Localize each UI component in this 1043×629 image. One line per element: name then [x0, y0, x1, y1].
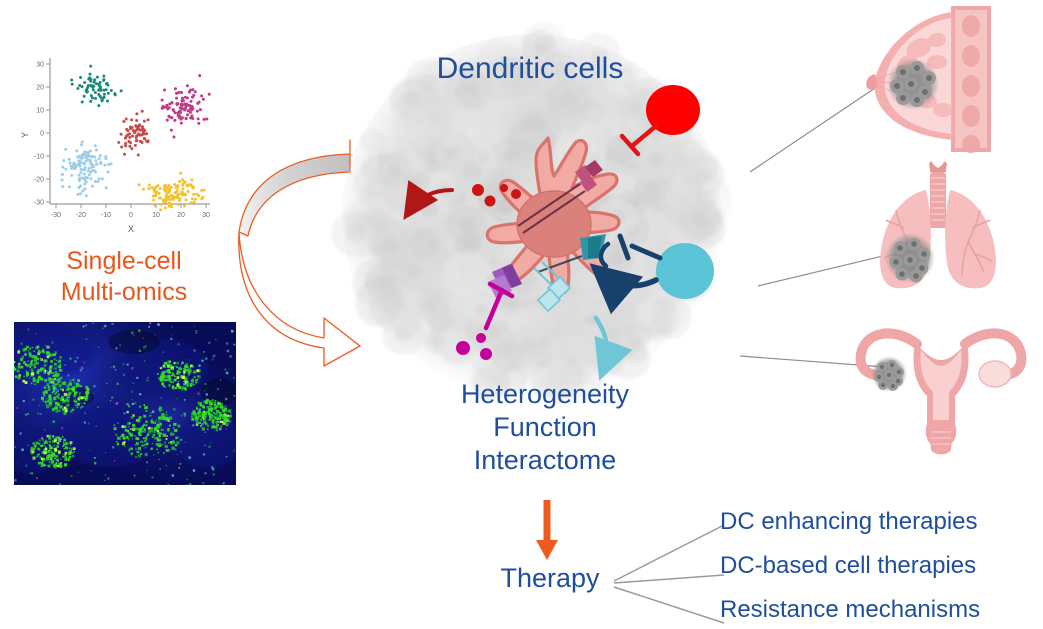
- cluster-red-point: [123, 153, 126, 156]
- micrograph-signal-dot: [56, 447, 58, 449]
- micrograph-signal-dot: [39, 439, 41, 441]
- cluster-yellow-point: [197, 194, 200, 197]
- micrograph-signal-dot: [161, 413, 164, 416]
- micrograph-speckle: [213, 473, 215, 475]
- cluster-teal-point: [106, 82, 109, 85]
- micrograph-speckle: [51, 453, 53, 455]
- micrograph-signal-dot: [164, 386, 166, 388]
- micrograph-signal-dot: [226, 410, 228, 412]
- micrograph-speckle: [117, 383, 119, 385]
- micrograph-signal-dot: [172, 374, 174, 376]
- cluster-blue-point: [89, 160, 92, 163]
- single-cell-scatter-plot: 30 20 10 0 -10 -20 -30 -30 -20: [14, 52, 236, 242]
- micrograph-signal-dot: [49, 404, 51, 406]
- micrograph-speckle: [199, 365, 201, 367]
- micrograph-signal-dot: [219, 412, 221, 414]
- cluster-yellow-point: [176, 196, 179, 199]
- micrograph-signal-dot: [49, 354, 52, 357]
- micrograph-signal-dot: [42, 439, 43, 440]
- cluster-blue-point: [99, 161, 102, 164]
- micrograph-speckle: [233, 377, 235, 379]
- micrograph-speckle: [59, 438, 62, 441]
- ovary-right: [979, 361, 1011, 387]
- micrograph-speckle: [86, 338, 88, 340]
- micrograph-signal-dot: [122, 425, 125, 428]
- micrograph-signal-dot: [70, 441, 73, 444]
- micrograph-signal-dot: [143, 415, 146, 418]
- cluster-yellow-point: [167, 188, 170, 191]
- cluster-blue-point: [110, 162, 113, 165]
- micrograph-speckle: [112, 446, 114, 448]
- micrograph-speckle: [176, 398, 177, 399]
- micrograph-speckle: [217, 388, 219, 390]
- tumor-cell-nucleus: [414, 177, 424, 186]
- micrograph-signal-dot: [138, 433, 141, 436]
- micrograph-speckle: [223, 482, 225, 484]
- micrograph-signal-dot: [49, 379, 51, 381]
- micrograph-speckle: [226, 456, 228, 458]
- micrograph-signal-dot: [142, 425, 145, 428]
- svg-text:-30: -30: [34, 200, 44, 207]
- micrograph-signal-dot: [177, 381, 179, 383]
- micrograph-signal-dot: [192, 366, 194, 368]
- micrograph-signal-dot: [154, 437, 156, 439]
- micrograph-signal-dot: [153, 454, 154, 455]
- cluster-blue-point: [91, 185, 94, 188]
- cluster-magenta-point: [175, 97, 178, 100]
- micrograph-signal-dot: [222, 407, 224, 409]
- micrograph-signal-dot: [37, 346, 40, 349]
- micrograph-speckle: [208, 342, 210, 344]
- micrograph-signal-dot: [220, 406, 222, 408]
- cluster-blue-point: [81, 168, 84, 171]
- cluster-teal-point: [88, 73, 91, 76]
- micrograph-signal-dot: [199, 422, 201, 424]
- micrograph-speckle: [40, 413, 42, 415]
- micrograph-signal-dot: [173, 442, 175, 444]
- micrograph-signal-dot: [73, 447, 76, 450]
- micrograph-signal-dot: [228, 409, 231, 412]
- micrograph-speckle: [185, 441, 186, 442]
- cluster-magenta-point: [202, 98, 205, 101]
- cluster-yellow-point: [142, 188, 145, 191]
- micrograph-speckle: [141, 394, 142, 395]
- micrograph-signal-dot: [57, 442, 59, 444]
- cluster-red-point: [141, 125, 144, 128]
- cluster-blue-point: [94, 144, 97, 147]
- micrograph-signal-dot: [178, 436, 179, 437]
- micrograph-signal-dot: [184, 371, 186, 373]
- micrograph-speckle: [127, 364, 129, 366]
- organ-uterus-illustration: [845, 320, 1041, 460]
- micrograph-speckle: [146, 379, 148, 381]
- micrograph-signal-dot: [62, 389, 64, 391]
- uterus-svg: [845, 320, 1041, 460]
- micrograph-signal-dot: [28, 350, 29, 351]
- micrograph-signal-dot: [153, 434, 156, 437]
- micrograph-signal-dot: [74, 394, 76, 396]
- micrograph-signal-dot: [33, 379, 36, 382]
- micrograph-signal-dot: [198, 402, 200, 404]
- micrograph-speckle: [125, 428, 126, 429]
- micrograph-signal-dot: [73, 451, 75, 453]
- micrograph-speckle: [134, 475, 136, 477]
- micrograph-speckle: [147, 377, 148, 378]
- micrograph-speckle: [81, 367, 83, 369]
- micrograph-signal-dot: [169, 361, 171, 363]
- dendritic-cells-label: Dendritic cells: [380, 52, 680, 86]
- micrograph-speckle: [146, 470, 147, 471]
- micrograph-speckle: [43, 367, 44, 368]
- cluster-teal-point: [120, 89, 123, 92]
- micrograph-signal-dot: [196, 421, 197, 422]
- micrograph-signal-dot: [87, 389, 88, 390]
- micrograph-signal-dot: [58, 375, 59, 376]
- micrograph-signal-dot: [44, 362, 45, 363]
- micrograph-speckle: [183, 413, 186, 416]
- micrograph-signal-dot: [15, 375, 18, 378]
- cluster-red-point: [135, 112, 138, 115]
- cluster-blue-point: [81, 153, 84, 156]
- cluster-blue-point: [93, 155, 96, 158]
- scatter-points-group: [61, 65, 211, 212]
- micrograph-signal-dot: [134, 435, 135, 436]
- caption-line-2: Multi-omics: [8, 277, 240, 308]
- micrograph-signal-dot: [85, 386, 88, 389]
- organ-breast-illustration: [845, 4, 1041, 159]
- micrograph-signal-dot: [41, 397, 44, 400]
- cluster-magenta-point: [168, 106, 171, 109]
- cluster-magenta-point: [208, 93, 211, 96]
- micrograph-signal-dot: [26, 375, 28, 377]
- micrograph-speckle: [70, 475, 72, 477]
- micrograph-signal-dot: [162, 382, 164, 384]
- micrograph-signal-dot: [176, 376, 179, 379]
- micrograph-signal-dot: [193, 376, 195, 378]
- cluster-red-point: [138, 123, 141, 126]
- micrograph-signal-dot: [190, 383, 193, 386]
- micrograph-speckle: [215, 339, 216, 340]
- micrograph-signal-dot: [32, 457, 35, 460]
- micrograph-signal-dot: [60, 462, 62, 464]
- micrograph-signal-dot: [200, 425, 202, 427]
- micrograph-signal-dot: [80, 407, 82, 409]
- micrograph-signal-dot: [128, 439, 129, 440]
- micrograph-signal-dot: [224, 405, 226, 407]
- micrograph-signal-dot: [220, 415, 222, 417]
- micrograph-speckle: [205, 472, 207, 474]
- micrograph-signal-dot: [127, 411, 129, 413]
- micrograph-signal-dot: [14, 361, 15, 363]
- cluster-yellow-point: [190, 201, 193, 204]
- micrograph-signal-dot: [56, 360, 58, 362]
- cluster-teal-point: [102, 75, 105, 78]
- micrograph-signal-dot: [132, 414, 134, 416]
- micrograph-speckle: [89, 450, 90, 451]
- micrograph-signal-dot: [41, 451, 44, 454]
- micrograph-signal-dot: [31, 383, 33, 385]
- cluster-magenta-point: [179, 106, 182, 109]
- micrograph-signal-dot: [117, 436, 119, 438]
- cluster-blue-point: [86, 158, 89, 161]
- micrograph-speckle: [211, 358, 214, 361]
- micrograph-signal-dot: [69, 450, 71, 452]
- micrograph-signal-dot: [114, 424, 116, 426]
- micrograph-signal-dot: [58, 378, 60, 380]
- micrograph-signal-dot: [205, 413, 207, 415]
- tumor-cell-nucleus: [691, 211, 710, 228]
- micrograph-signal-dot: [66, 385, 68, 387]
- micrograph-signal-dot: [54, 384, 55, 385]
- micrograph-signal-dot: [54, 363, 57, 366]
- micrograph-signal-dot: [122, 442, 125, 445]
- micrograph-signal-dot: [193, 410, 195, 412]
- micrograph-speckle: [173, 440, 175, 442]
- tumor-cell-nucleus: [406, 263, 423, 278]
- micrograph-signal-dot: [132, 439, 133, 440]
- micrograph-speckle: [203, 351, 205, 353]
- micrograph-speckle: [14, 369, 16, 371]
- cluster-blue-point: [88, 173, 91, 176]
- micrograph-signal-dot: [73, 400, 75, 402]
- cluster-yellow-point: [158, 197, 161, 200]
- cluster-blue-point: [101, 177, 104, 180]
- cluster-magenta-point: [191, 88, 194, 91]
- micrograph-signal-dot: [60, 388, 62, 390]
- svg-text:0: 0: [40, 131, 44, 138]
- micrograph-speckle: [180, 463, 182, 465]
- micrograph-signal-dot: [163, 365, 165, 367]
- cluster-yellow-point: [170, 186, 173, 189]
- cluster-yellow-point: [153, 203, 156, 206]
- micrograph-signal-dot: [54, 398, 56, 400]
- micrograph-signal-dot: [166, 435, 168, 437]
- tumor-cell-nucleus: [466, 85, 480, 98]
- micrograph-signal-dot: [184, 387, 187, 390]
- micrograph-speckle: [143, 431, 145, 433]
- micrograph-signal-dot: [48, 450, 51, 453]
- micrograph-signal-dot: [51, 404, 52, 405]
- micrograph-signal-dot: [222, 422, 223, 423]
- cluster-red-point: [141, 133, 144, 136]
- micrograph-signal-dot: [63, 442, 64, 443]
- scatter-svg: 30 20 10 0 -10 -20 -30 -30 -20: [14, 52, 236, 242]
- cluster-blue-point: [81, 176, 84, 179]
- cluster-blue-point: [80, 143, 83, 146]
- micrograph-signal-dot: [185, 381, 187, 383]
- micrograph-signal-dot: [137, 443, 140, 446]
- micrograph-signal-dot: [60, 458, 62, 460]
- cluster-teal-point: [89, 65, 92, 68]
- micrograph-signal-dot: [173, 423, 176, 426]
- micrograph-speckle: [193, 469, 195, 471]
- micrograph-signal-dot: [38, 454, 40, 456]
- micrograph-signal-dot: [50, 360, 53, 363]
- micrograph-speckle: [136, 377, 138, 379]
- svg-text:10: 10: [152, 212, 160, 219]
- micrograph-signal-dot: [60, 356, 62, 358]
- cluster-blue-point: [94, 159, 97, 162]
- micrograph-signal-dot: [150, 412, 151, 413]
- micrograph-speckle: [159, 459, 160, 460]
- cluster-red-point: [131, 126, 134, 129]
- micrograph-signal-dot: [132, 424, 135, 427]
- tumor-cell-nucleus: [694, 167, 712, 183]
- micrograph-signal-dot: [174, 379, 177, 382]
- cluster-blue-point: [68, 158, 71, 161]
- micrograph-signal-dot: [31, 368, 34, 371]
- micrograph-speckle: [27, 413, 29, 415]
- cluster-red-point: [142, 130, 145, 133]
- micrograph-signal-dot: [157, 439, 160, 442]
- cluster-magenta-point: [163, 88, 166, 91]
- micrograph-signal-dot: [176, 362, 179, 365]
- cluster-teal-point: [94, 91, 97, 94]
- micrograph-signal-dot: [166, 414, 168, 416]
- micrograph-speckle: [170, 441, 172, 443]
- therapy-outcome-item: DC-based cell therapies: [720, 544, 1040, 588]
- micrograph-signal-dot: [70, 444, 72, 446]
- micrograph-signal-dot: [48, 394, 51, 397]
- micrograph-signal-dot: [33, 443, 35, 445]
- cluster-red-point: [145, 132, 148, 135]
- micrograph-speckle: [123, 364, 125, 366]
- micrograph-speckle: [146, 410, 148, 412]
- micrograph-speckle: [44, 430, 45, 431]
- micrograph-signal-dot: [160, 423, 163, 426]
- micrograph-signal-dot: [66, 404, 68, 406]
- micrograph-signal-dot: [161, 429, 163, 431]
- breast-svg: [845, 4, 1041, 159]
- micrograph-signal-dot: [156, 449, 158, 451]
- cluster-yellow-point: [179, 172, 182, 175]
- micrograph-speckle: [45, 345, 46, 346]
- micrograph-speckle: [195, 330, 197, 332]
- micrograph-signal-dot: [42, 350, 44, 352]
- micrograph-speckle: [69, 358, 71, 360]
- micrograph-signal-dot: [86, 391, 89, 394]
- micrograph-speckle: [21, 343, 23, 345]
- micrograph-signal-dot: [207, 406, 210, 409]
- micrograph-speckle: [128, 426, 129, 427]
- micrograph-signal-dot: [138, 447, 141, 450]
- micrograph-speckle: [180, 439, 182, 441]
- micrograph-speckle: [226, 342, 228, 344]
- micrograph-speckle: [203, 482, 205, 484]
- micrograph-signal-dot: [18, 365, 21, 368]
- micrograph-signal-dot: [17, 370, 20, 373]
- micrograph-speckle: [210, 442, 211, 443]
- micrograph-signal-dot: [131, 447, 133, 449]
- cluster-magenta-point: [180, 122, 183, 125]
- micrograph-speckle: [208, 446, 211, 449]
- micrograph-signal-dot: [55, 402, 58, 405]
- micrograph-signal-dot: [57, 366, 58, 367]
- micrograph-signal-dot: [149, 415, 151, 417]
- micrograph-signal-dot: [202, 405, 204, 407]
- micrograph-signal-dot: [35, 360, 37, 362]
- micrograph-speckle: [84, 413, 85, 414]
- micrograph-signal-dot: [176, 373, 178, 375]
- cluster-blue-point: [83, 172, 86, 175]
- micrograph-speckle: [77, 357, 79, 359]
- cluster-teal-point: [99, 81, 102, 84]
- micrograph-signal-dot: [158, 416, 161, 419]
- micrograph-speckle: [80, 369, 82, 371]
- micrograph-speckle: [160, 397, 162, 399]
- micrograph-signal-dot: [172, 382, 174, 384]
- cluster-teal-point: [106, 100, 109, 103]
- micrograph-signal-dot: [191, 380, 194, 383]
- micrograph-speckle: [131, 332, 134, 335]
- micrograph-speckle: [138, 451, 140, 453]
- micrograph-signal-dot: [36, 380, 39, 383]
- micrograph-signal-dot: [165, 419, 167, 421]
- cluster-magenta-point: [184, 96, 187, 99]
- micrograph-signal-dot: [18, 375, 21, 378]
- micrograph-speckle: [131, 367, 133, 369]
- micrograph-speckle: [174, 365, 176, 367]
- micrograph-signal-dot: [58, 402, 60, 404]
- cluster-magenta-point: [186, 113, 189, 116]
- micrograph-signal-dot: [46, 398, 47, 399]
- cluster-magenta-point: [196, 110, 199, 113]
- therapy-arrow-svg: [527, 500, 567, 562]
- micrograph-signal-dot: [58, 459, 59, 460]
- micrograph-signal-dot: [169, 417, 172, 420]
- therapy-down-arrow: [527, 500, 567, 562]
- cluster-blue-point: [78, 174, 81, 177]
- micrograph-signal-dot: [181, 362, 184, 365]
- micrograph-speckle: [33, 399, 35, 401]
- micrograph-signal-dot: [14, 366, 15, 368]
- micrograph-speckle: [85, 324, 87, 326]
- micrograph-signal-dot: [186, 363, 188, 365]
- micrograph-speckle: [165, 372, 167, 374]
- micrograph-speckle: [37, 412, 39, 414]
- micrograph-signal-dot: [46, 404, 47, 405]
- micrograph-speckle: [21, 449, 24, 452]
- micrograph-speckle: [205, 358, 207, 360]
- micrograph-speckle: [184, 415, 186, 417]
- micrograph-signal-dot: [209, 419, 211, 421]
- micrograph-signal-dot: [34, 362, 37, 365]
- micrograph-signal-dot: [55, 374, 58, 377]
- micrograph-signal-dot: [144, 404, 146, 406]
- micrograph-signal-dot: [65, 456, 68, 459]
- tumor-cell-blob: [375, 299, 409, 332]
- micrograph-signal-dot: [193, 384, 195, 386]
- micrograph-signal-dot: [44, 441, 47, 444]
- cluster-magenta-point: [166, 119, 169, 122]
- micrograph-speckle: [27, 328, 29, 330]
- cluster-yellow-point: [193, 201, 196, 204]
- micrograph-signal-dot: [29, 348, 31, 350]
- micrograph-speckle: [119, 345, 120, 346]
- micrograph-speckle: [173, 408, 175, 410]
- cluster-teal-point: [107, 92, 110, 95]
- micrograph-signal-dot: [165, 366, 167, 368]
- cluster-magenta-point: [173, 119, 176, 122]
- micrograph-speckle: [227, 350, 230, 353]
- micrograph-signal-dot: [214, 412, 217, 415]
- micrograph-signal-dot: [130, 453, 133, 456]
- micrograph-speckle: [132, 399, 133, 400]
- micrograph-speckle: [201, 360, 203, 362]
- cluster-yellow-point: [170, 194, 173, 197]
- micrograph-signal-dot: [164, 443, 165, 444]
- micrograph-signal-dot: [64, 448, 66, 450]
